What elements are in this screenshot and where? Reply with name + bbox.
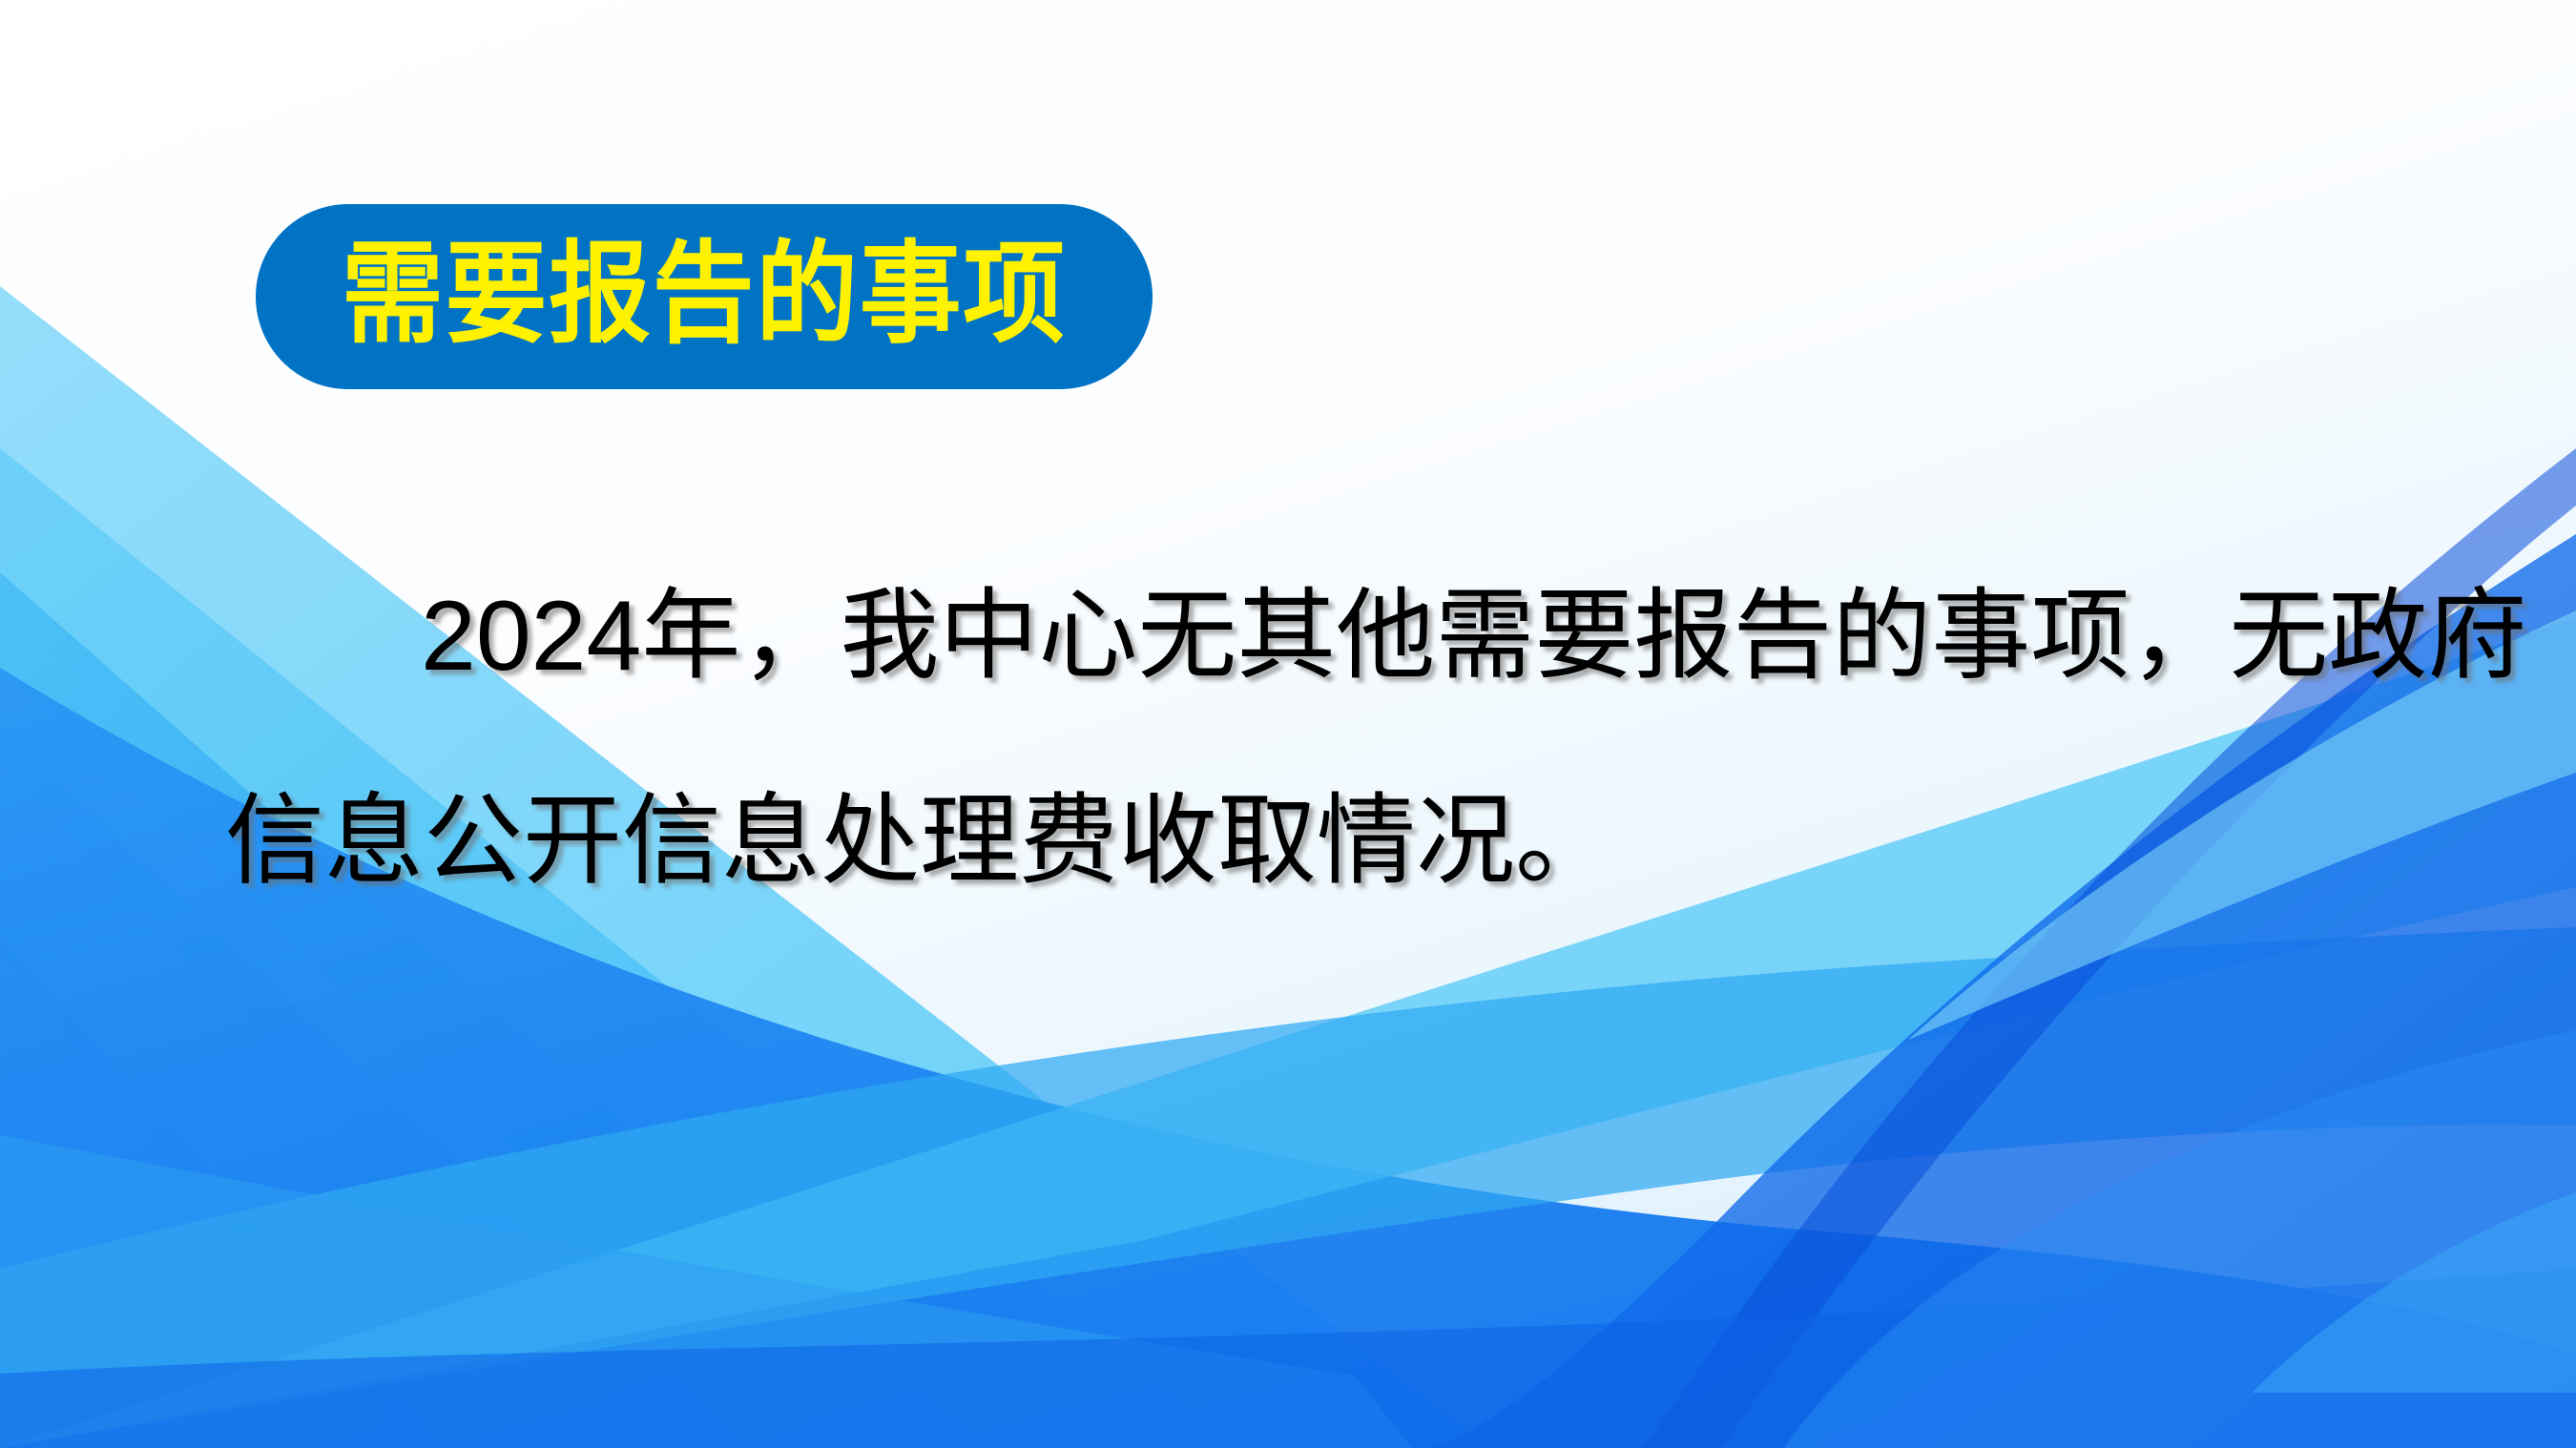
body-paragraph: 2024年，我中心无其他需要报告的事项，无政府 信息公开信息处理费收取情况。 [225, 534, 2420, 944]
section-title-pill: 需要报告的事项 [256, 204, 1153, 389]
slide-canvas: 需要报告的事项 2024年，我中心无其他需要报告的事项，无政府 信息公开信息处理… [0, 0, 2576, 1448]
section-title-label: 需要报告的事项 [342, 238, 1067, 349]
body-line-2: 信息公开信息处理费收取情况。 [225, 739, 2420, 944]
body-line-1: 2024年，我中心无其他需要报告的事项，无政府 [225, 534, 2420, 739]
